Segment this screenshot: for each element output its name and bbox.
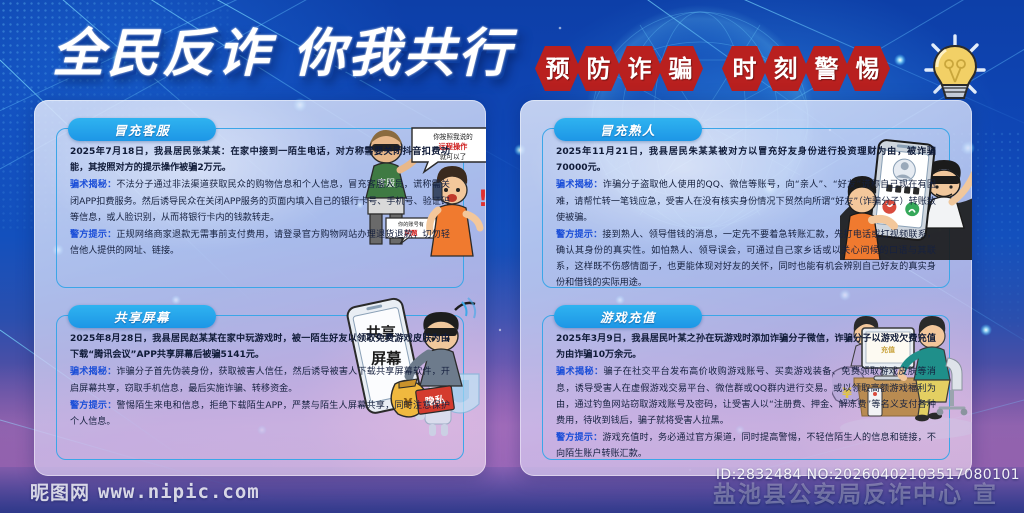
card-police: 警方提示：警惕陌生来电和信息，拒绝下载陌生APP，严禁与陌生人屏幕共享，同时注意… (70, 398, 450, 430)
watermark-url: www.nipic.com (98, 481, 260, 503)
lightbulb-icon (922, 34, 988, 106)
card-trick: 骗术揭秘：诈骗分子盗取他人使用的QQ、微信等账号，向“亲人”、“好友”谎称自己现… (556, 177, 936, 226)
trick-label: 骗术揭秘： (70, 367, 116, 377)
card-screen-share: 共享屏幕 2025年8月28日，我县居民赵某某在家中玩游戏时，被一陌生好友以领取… (56, 305, 464, 460)
police-label: 警方提示： (556, 230, 602, 240)
card-story: 2025年3月9日，我县居民叶某之孙在玩游戏时添加诈骗分子微信，诈骗分子以游戏欠… (556, 331, 936, 363)
card-trick: 骗术揭秘：不法分子通过非法渠道获取民众的购物信息和个人信息，冒充客服人员，谎称需… (70, 177, 450, 226)
subtitle-hex-1: 防 (576, 46, 621, 91)
subtitle-hex-4: 时 (722, 46, 767, 91)
police-label: 警方提示： (70, 401, 117, 411)
trick-label: 骗术揭秘： (70, 180, 116, 190)
svg-text:!?: !? (478, 187, 486, 212)
card-trick: 骗术揭秘：骗子在社交平台发布高价收购游戏账号、买卖游戏装备、免费领取游戏皮肤等消… (556, 364, 936, 429)
subtitle-hex-6: 警 (804, 46, 849, 91)
panel-right: 冒充熟人 2025年11月21日，我县居民朱某某被对方以冒充好友身份进行投资理财… (520, 100, 972, 476)
watermark-cn: 昵图网 (30, 478, 90, 505)
panel-left: 冒充客服 2025年7月18日，我县居民张某某：在家中接到一陌生电话，对方称需要… (34, 100, 486, 476)
subtitle-hex-3: 骗 (658, 46, 703, 91)
card-body: 2025年3月9日，我县居民叶某之孙在玩游戏时添加诈骗分子微信，诈骗分子以游戏欠… (542, 305, 950, 471)
police-label: 警方提示： (70, 230, 116, 240)
trick-text: 不法分子通过非法渠道获取民众的购物信息和个人信息，冒充客服人员，谎称需关闭APP… (70, 180, 450, 222)
police-text: 接到熟人、领导借钱的消息，一定先不要着急转账汇款，先打电话或打视频联系，确认其身… (556, 230, 936, 289)
card-fake-acquaintance: 冒充熟人 2025年11月21日，我县居民朱某某被对方以冒充好友身份进行投资理财… (542, 118, 950, 288)
page-title: 全民反诈 你我共行 (52, 28, 513, 80)
card-story: 2025年8月28日，我县居民赵某某在家中玩游戏时，被一陌生好友以领取免费游戏皮… (70, 331, 450, 363)
subtitle-hex-0: 预 (535, 46, 580, 91)
police-text: 正规网络商家退款无需事前支付费用，请登录官方购物网站办理退货退款，切勿轻信他人提… (70, 230, 450, 256)
subtitle-banner: 预 防 诈 骗 时 刻 警 惕 (540, 46, 890, 91)
card-badge: 冒充熟人 (554, 118, 702, 141)
card-badge: 游戏充值 (554, 305, 702, 328)
trick-text: 诈骗分子盗取他人使用的QQ、微信等账号，向“亲人”、“好友”谎称自己现在有困难，… (556, 180, 936, 222)
card-body: 2025年11月21日，我县居民朱某某被对方以冒充好友身份进行投资理财为由，被诈… (542, 118, 950, 301)
card-badge: 共享屏幕 (68, 305, 216, 328)
police-text: 警惕陌生来电和信息，拒绝下载陌生APP，严禁与陌生人屏幕共享，同时注意保护个人信… (70, 401, 450, 427)
card-story: 2025年7月18日，我县居民张某某：在家中接到一陌生电话，对方称需要关闭抖音扣… (70, 144, 450, 176)
trick-text: 诈骗分子首先伪装身份，获取被害人信任，然后诱导被害人下载共享屏幕软件，开启屏幕共… (70, 367, 450, 393)
subtitle-hex-5: 刻 (763, 46, 808, 91)
card-story: 2025年11月21日，我县居民朱某某被对方以冒充好友身份进行投资理财为由，被诈… (556, 144, 936, 176)
card-fake-customer-service: 冒充客服 2025年7月18日，我县居民张某某：在家中接到一陌生电话，对方称需要… (56, 118, 464, 288)
trick-label: 骗术揭秘： (556, 180, 603, 190)
trick-label: 骗术揭秘： (556, 367, 604, 377)
card-police: 警方提示：游戏充值时，务必通过官方渠道，同时提高警惕，不轻信陌生人的信息和链接，… (556, 430, 936, 462)
card-badge: 冒充客服 (68, 118, 216, 141)
trick-text: 骗子在社交平台发布高价收购游戏账号、买卖游戏装备、免费领取游戏皮肤等消息，诱导受… (556, 367, 936, 426)
site-watermark: 昵图网 www.nipic.com (30, 478, 260, 505)
subtitle-hex-7: 惕 (845, 46, 890, 91)
card-police: 警方提示：接到熟人、领导借钱的消息，一定先不要着急转账汇款，先打电话或打视频联系… (556, 227, 936, 292)
subtitle-hex-2: 诈 (617, 46, 662, 91)
police-label: 警方提示： (556, 433, 602, 443)
police-text: 游戏充值时，务必通过官方渠道，同时提高警惕，不轻信陌生人的信息和链接，不向陌生账… (556, 433, 936, 459)
card-police: 警方提示：正规网络商家退款无需事前支付费用，请登录官方购物网站办理退货退款，切勿… (70, 227, 450, 259)
anti-fraud-poster: 全民反诈 你我共行 预 防 诈 骗 时 刻 警 惕 (0, 0, 1024, 513)
card-game-topup: 游戏充值 2025年3月9日，我县居民叶某之孙在玩游戏时添加诈骗分子微信，诈骗分… (542, 305, 950, 460)
card-trick: 骗术揭秘：诈骗分子首先伪装身份，获取被害人信任，然后诱导被害人下载共享屏幕软件，… (70, 364, 450, 396)
